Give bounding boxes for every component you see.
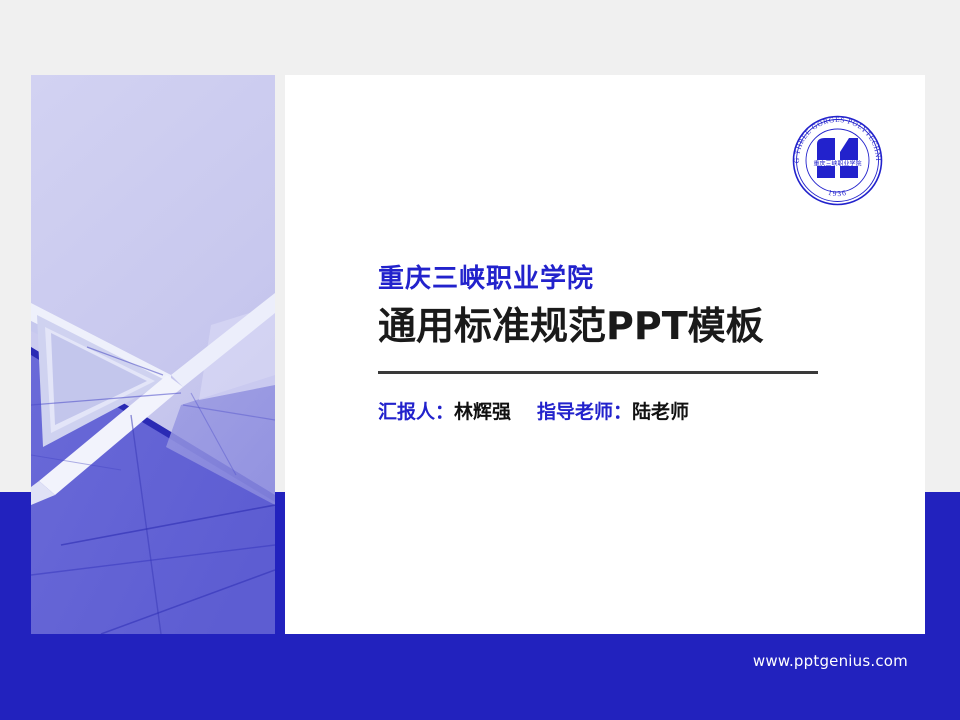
title-text-block: 重庆三峡职业学院 通用标准规范PPT模板 汇报人：林辉强指导老师：陆老师 [378,265,838,423]
school-name: 重庆三峡职业学院 [378,265,838,295]
svg-text:重庆三峡职业学院: 重庆三峡职业学院 [813,160,861,168]
presenter-line: 汇报人：林辉强指导老师：陆老师 [378,401,838,424]
presenter-label: 汇报人： [378,401,454,423]
title-divider [378,371,818,374]
slide-canvas: CHONGQING THREE GORGES POLYTECHNIC COLLE… [0,0,960,720]
advisor-label: 指导老师： [537,401,632,423]
svg-text:1936: 1936 [827,188,848,198]
seal-icon: CHONGQING THREE GORGES POLYTECHNIC COLLE… [785,108,890,213]
advisor-name: 陆老师 [632,401,689,423]
presenter-name: 林辉强 [454,401,511,423]
footer-url: www.pptgenius.com [0,652,908,670]
content-card: CHONGQING THREE GORGES POLYTECHNIC COLLE… [285,75,925,634]
page-title: 通用标准规范PPT模板 [378,305,838,349]
left-photo-panel [31,75,275,634]
college-seal-logo: CHONGQING THREE GORGES POLYTECHNIC COLLE… [785,108,890,213]
abstract-architecture-photo [31,75,275,634]
